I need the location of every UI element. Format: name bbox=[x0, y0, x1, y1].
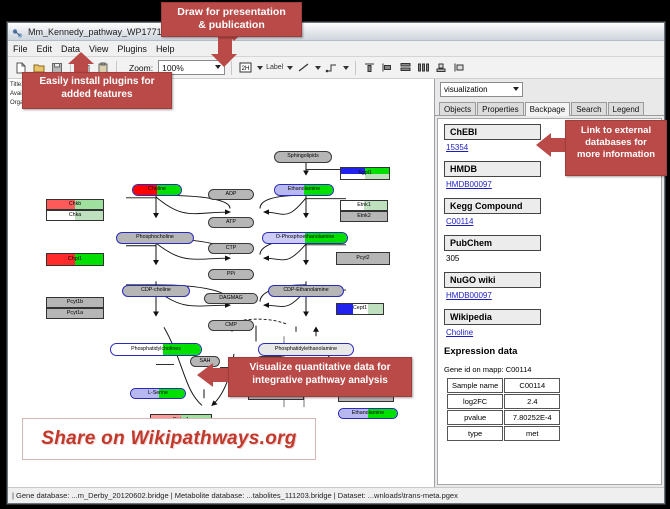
row-label: type bbox=[447, 426, 503, 441]
group-icon[interactable] bbox=[434, 60, 449, 75]
zoom-value: 100% bbox=[162, 63, 184, 73]
share-banner-text: Share on Wikipathways.org bbox=[41, 428, 296, 450]
node-ctp[interactable]: CTP bbox=[208, 243, 254, 254]
gene-label: Chpt1 bbox=[68, 257, 82, 262]
callout-line-1: Draw for presentation & publication bbox=[162, 6, 301, 32]
node-cmp[interactable]: CMP bbox=[208, 320, 254, 331]
expression-data-table: Sample name C00114 log2FC 2.4 pvalue 7.8… bbox=[446, 377, 561, 442]
node-cdp-ethanolamine[interactable]: CDP-Ethanolamine bbox=[268, 285, 344, 297]
status-bar: | Gene database: ...m_Derby_20120602.bri… bbox=[8, 487, 664, 503]
tab-legend[interactable]: Legend bbox=[608, 102, 645, 115]
node-ppi[interactable]: PPi bbox=[208, 269, 254, 280]
node-label: CTP bbox=[226, 246, 237, 251]
node-label: L-Serine bbox=[148, 391, 168, 396]
row-value: 7.80252E-4 bbox=[504, 410, 560, 425]
db-header-hmdb: HMDB bbox=[444, 161, 541, 177]
line-icon[interactable] bbox=[296, 60, 311, 75]
gene-pcyt1a[interactable]: Pcyt1a bbox=[46, 308, 104, 319]
expression-data-title: Expression data bbox=[444, 346, 655, 357]
node-dagmag[interactable]: DAGMAG bbox=[204, 293, 258, 304]
callout-easily-install-plugins: Easily install plugins for added feature… bbox=[22, 72, 172, 109]
stack-icon[interactable] bbox=[398, 60, 413, 75]
align-top-icon[interactable] bbox=[362, 60, 377, 75]
table-row: log2FC 2.4 bbox=[447, 394, 560, 409]
menu-edit[interactable]: Edit bbox=[37, 44, 53, 54]
gene-chpt1[interactable]: Chpt1 bbox=[46, 253, 104, 266]
db-header-pubchem: PubChem bbox=[444, 235, 541, 251]
db-value-pubchem: 305 bbox=[446, 254, 655, 263]
db-link-kegg[interactable]: C00114 bbox=[446, 217, 655, 226]
tab-properties[interactable]: Properties bbox=[477, 102, 523, 115]
db-link-hmdb[interactable]: HMDB00097 bbox=[446, 180, 655, 189]
callout-visualize-quantitative-data: Visualize quantitative data for integrat… bbox=[228, 357, 412, 397]
datanode-icon[interactable]: 2H bbox=[238, 60, 253, 75]
gene-label: Pcyt1b bbox=[67, 300, 83, 305]
gene-cept1[interactable]: Cept1 bbox=[336, 303, 384, 315]
callout-arrow-head-up bbox=[68, 52, 94, 64]
node-label: Ethanolamine bbox=[288, 187, 320, 192]
gene-label: Chka bbox=[69, 213, 81, 218]
chevron-down-icon[interactable] bbox=[257, 66, 263, 70]
align-left-icon[interactable] bbox=[380, 60, 395, 75]
tab-backpage[interactable]: Backpage bbox=[525, 102, 571, 116]
node-label: CDP-Ethanolamine bbox=[283, 288, 328, 293]
gene-id-on-mapp: Gene id on mapp: C00114 bbox=[444, 365, 655, 374]
callout-link-external-databases: Link to external databases for more info… bbox=[565, 120, 667, 176]
gene-chka[interactable]: Chka bbox=[46, 210, 104, 221]
node-l-serine-left[interactable]: L-Serine bbox=[130, 388, 186, 399]
value-half-right bbox=[368, 304, 383, 314]
node-ethanolamine[interactable]: Ethanolamine bbox=[274, 184, 334, 196]
distribute-icon[interactable] bbox=[416, 60, 431, 75]
gene-pcyt1b[interactable]: Pcyt1b bbox=[46, 297, 104, 308]
zoom-label: Zoom: bbox=[129, 63, 153, 73]
node-label: Sphingolipids bbox=[287, 154, 319, 159]
gene-label: Etnk2 bbox=[357, 214, 371, 219]
node-label: DAGMAG bbox=[219, 296, 243, 301]
node-label: Phosphatidylethanolamine bbox=[275, 347, 337, 352]
row-value: met bbox=[504, 426, 560, 441]
node-label: ADP bbox=[226, 192, 237, 197]
row-value: 2.4 bbox=[504, 394, 560, 409]
db-header-nugowiki: NuGO wiki bbox=[444, 272, 541, 288]
gene-chkb[interactable]: Chkb bbox=[46, 199, 104, 210]
row-label: log2FC bbox=[447, 394, 503, 409]
share-banner: Share on Wikipathways.org bbox=[22, 418, 316, 460]
db-header-chebi: ChEBI bbox=[444, 124, 541, 140]
gene-label: Chkb bbox=[69, 202, 81, 207]
connector-icon[interactable] bbox=[324, 60, 339, 75]
node-choline-top[interactable]: Choline bbox=[132, 184, 182, 196]
node-ethanolamine-right[interactable]: Ethanolamine bbox=[338, 408, 398, 419]
node-label: Choline bbox=[148, 187, 166, 192]
label-tool-text[interactable]: Label bbox=[266, 64, 283, 71]
row-value: C00114 bbox=[504, 378, 560, 393]
table-row: type met bbox=[447, 426, 560, 441]
db-header-wikipedia: Wikipedia bbox=[444, 309, 541, 325]
gene-pcyt2[interactable]: Pcyt2 bbox=[336, 252, 390, 265]
chevron-down-icon bbox=[513, 87, 519, 91]
visualization-combo-row: visualization bbox=[435, 79, 664, 99]
gene-label: Cept1 bbox=[353, 306, 367, 311]
callout-line-1: Visualize quantitative data for integrat… bbox=[229, 362, 411, 387]
row-label: Sample name bbox=[447, 378, 503, 393]
status-text: | Gene database: ...m_Derby_20120602.bri… bbox=[12, 491, 458, 500]
callout-line-1: Easily install plugins for added feature… bbox=[23, 76, 171, 101]
tab-objects[interactable]: Objects bbox=[439, 102, 476, 115]
gene-label: Pcyt2 bbox=[356, 256, 369, 261]
callout-line-1: Link to external databases for more info… bbox=[566, 125, 666, 161]
node-label: CDP-choline bbox=[141, 288, 171, 293]
gene-etnk1[interactable]: Etnk1 bbox=[340, 200, 388, 211]
menu-help[interactable]: Help bbox=[156, 44, 175, 54]
table-row: Sample name C00114 bbox=[447, 378, 560, 393]
node-phosphatidylcholines[interactable]: Phosphatidylcholines bbox=[110, 343, 202, 356]
node-sphingolipids[interactable]: Sphingolipids bbox=[274, 151, 332, 163]
node-label: O-Phosphoethanolamine bbox=[276, 235, 335, 240]
node-o-phosphoethanolamine[interactable]: O-Phosphoethanolamine bbox=[262, 232, 348, 244]
node-label: ATP bbox=[226, 220, 236, 225]
node-adp[interactable]: ADP bbox=[208, 189, 254, 200]
node-phosphatidylethanolamine[interactable]: Phosphatidylethanolamine bbox=[258, 343, 354, 356]
gene-label: Sgpl1 bbox=[358, 171, 372, 176]
toolbar-separator bbox=[355, 61, 356, 75]
row-label: pvalue bbox=[447, 410, 503, 425]
ungroup-icon[interactable] bbox=[452, 60, 467, 75]
gene-sgpl1[interactable]: Sgpl1 bbox=[340, 167, 390, 180]
callout-draw-for-presentation: Draw for presentation & publication bbox=[161, 2, 302, 37]
menu-file[interactable]: File bbox=[13, 44, 28, 54]
title-bar: Mm_Kennedy_pathway_WP1771_45176.gpml bbox=[8, 23, 664, 41]
side-panel-tabs: Objects Properties Backpage Search Legen… bbox=[435, 99, 664, 116]
db-header-kegg: Kegg Compound bbox=[444, 198, 541, 214]
gene-label: Pcyt1a bbox=[67, 311, 83, 316]
db-link-wikipedia[interactable]: Choline bbox=[446, 328, 655, 337]
node-label: Phosphatidylcholines bbox=[131, 347, 181, 352]
visualization-combo[interactable]: visualization bbox=[440, 82, 523, 97]
table-row: pvalue 7.80252E-4 bbox=[447, 410, 560, 425]
gene-label: Etnk1 bbox=[357, 203, 371, 208]
tab-search[interactable]: Search bbox=[571, 102, 606, 115]
node-phosphocholine[interactable]: Phosphocholine bbox=[116, 232, 194, 244]
chevron-down-icon[interactable] bbox=[287, 66, 293, 70]
chevron-down-icon[interactable] bbox=[315, 66, 321, 70]
value-half-left bbox=[337, 304, 353, 314]
menu-bar: File Edit Data View Plugins Help bbox=[8, 41, 664, 57]
db-link-nugowiki[interactable]: HMDB00097 bbox=[446, 291, 655, 300]
svg-text:2H: 2H bbox=[242, 66, 250, 72]
callout-arrow-head-left bbox=[197, 363, 213, 387]
node-label: Ethanolamine bbox=[352, 411, 384, 416]
node-cdp-choline[interactable]: CDP-choline bbox=[122, 285, 190, 297]
callout-arrow-head-down bbox=[211, 54, 237, 67]
node-atp[interactable]: ATP bbox=[208, 217, 254, 228]
node-label: Phosphocholine bbox=[136, 235, 174, 240]
callout-arrow-head-left bbox=[536, 133, 551, 157]
gene-etnk2[interactable]: Etnk2 bbox=[340, 211, 388, 222]
visualization-value: visualization bbox=[444, 85, 488, 94]
node-label: PPi bbox=[227, 272, 235, 277]
pathvisio-icon bbox=[12, 26, 23, 37]
node-label: CMP bbox=[225, 323, 237, 328]
menu-plugins[interactable]: Plugins bbox=[117, 44, 147, 54]
chevron-down-icon[interactable] bbox=[343, 66, 349, 70]
